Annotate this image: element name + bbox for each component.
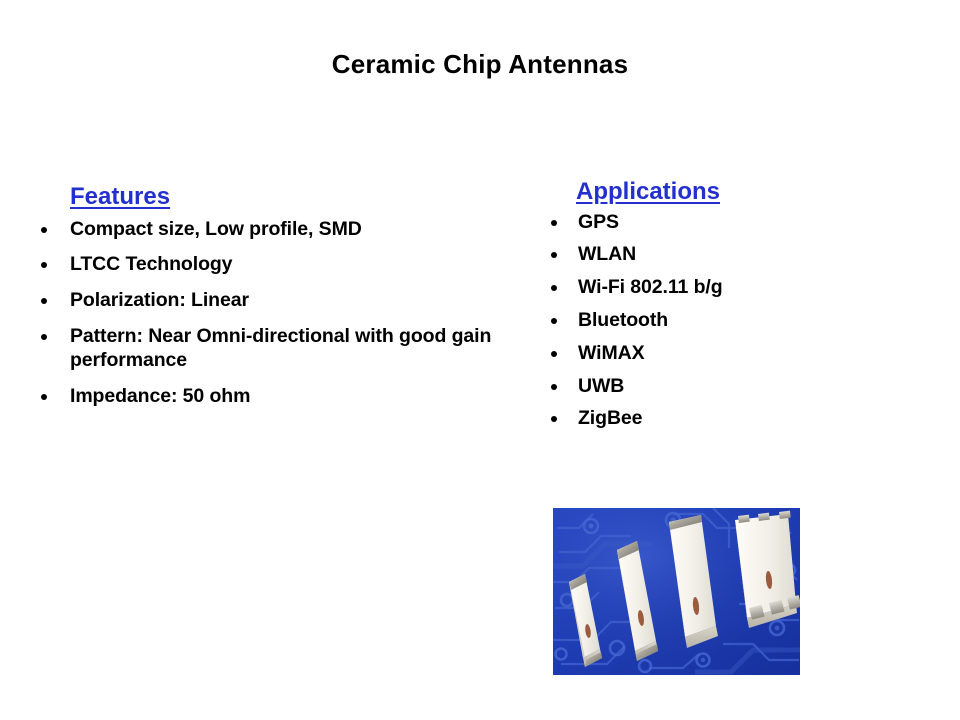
applications-item-label: GPS <box>578 211 619 233</box>
applications-item-label: Wi-Fi 802.11 b/g <box>578 276 723 298</box>
list-item: Polarization: Linear <box>36 289 506 313</box>
features-item-label: Compact size, Low profile, SMD <box>70 218 362 240</box>
list-item: UWB <box>548 375 938 399</box>
list-item: Wi-Fi 802.11 b/g <box>548 276 938 300</box>
features-item-label: Pattern: Near Omni-directional with good… <box>70 325 491 371</box>
list-item: LTCC Technology <box>36 253 506 277</box>
features-list: Compact size, Low profile, SMD LTCC Tech… <box>36 218 506 409</box>
features-column: Features Compact size, Low profile, SMD … <box>36 183 506 408</box>
features-item-label: LTCC Technology <box>70 253 232 275</box>
chip-antenna-photo-svg <box>553 508 800 675</box>
list-item: GPS <box>548 211 938 235</box>
slide-root: Ceramic Chip Antennas Features Compact s… <box>0 0 960 720</box>
applications-item-label: ZigBee <box>578 407 642 429</box>
list-item: Compact size, Low profile, SMD <box>36 218 506 242</box>
list-item: Impedance: 50 ohm <box>36 385 506 409</box>
product-photo <box>553 508 800 675</box>
features-heading: Features <box>70 183 170 211</box>
list-item: Bluetooth <box>548 309 938 333</box>
features-item-label: Impedance: 50 ohm <box>70 385 250 407</box>
list-item: WLAN <box>548 243 938 267</box>
applications-item-label: WLAN <box>578 243 636 265</box>
applications-column: Applications GPS WLAN Wi-Fi 802.11 b/g B… <box>548 178 938 431</box>
list-item: WiMAX <box>548 342 938 366</box>
page-title: Ceramic Chip Antennas <box>0 50 960 79</box>
list-item: ZigBee <box>548 407 938 431</box>
applications-item-label: UWB <box>578 375 624 397</box>
features-item-label: Polarization: Linear <box>70 289 249 311</box>
list-item: Pattern: Near Omni-directional with good… <box>36 325 506 373</box>
applications-heading: Applications <box>576 178 720 206</box>
applications-item-label: Bluetooth <box>578 309 668 331</box>
applications-list: GPS WLAN Wi-Fi 802.11 b/g Bluetooth WiMA… <box>548 211 938 431</box>
applications-item-label: WiMAX <box>578 342 644 364</box>
